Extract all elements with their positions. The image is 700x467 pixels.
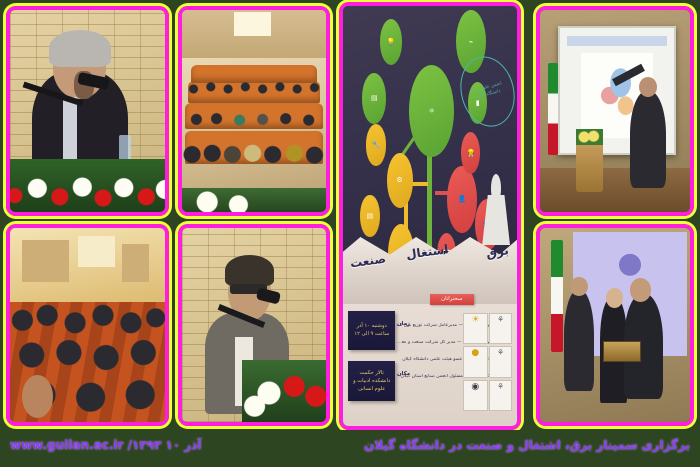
poster-content: ⚛ 💡 ⌁ ▤ ▮ ⚙ 🔧 ▤ 🏭 👤 👷 👥 👪 xyxy=(343,6,517,426)
iran-flag xyxy=(551,240,563,353)
screen-emblem xyxy=(605,239,655,281)
node-bulb-icon: 💡 xyxy=(380,19,403,65)
logo-engineering-org: ◉ xyxy=(463,380,488,411)
event-place-box: تالار حکمت دانشکده ادبیات و علوم انسانی xyxy=(348,361,395,401)
photo-content xyxy=(10,10,165,212)
footer-bar: www.guilan.ac.ir /۱۳۹۳ آذر ۱۰ برگزاری سم… xyxy=(0,430,700,467)
event-time-line2: ساعت ۹ الی ۱۲ xyxy=(354,330,389,338)
person-right-head xyxy=(630,278,651,301)
photo-frame-inner xyxy=(6,6,169,216)
presenter-head xyxy=(639,77,657,97)
person-middle-head xyxy=(606,288,623,307)
poster-frame-inner: ⚛ 💡 ⌁ ▤ ▮ ⚙ 🔧 ▤ 🏭 👤 👷 👥 👪 xyxy=(339,2,521,430)
award-plaque xyxy=(603,341,641,362)
photo-award-bottom-right xyxy=(536,224,694,426)
podium-flowers xyxy=(576,129,603,145)
speakers-badge: سخنرانان xyxy=(430,294,474,305)
logo-university-guilan-2: ⚘ xyxy=(489,346,512,377)
photo-audience-bottom-left xyxy=(6,224,169,426)
photo-frame-inner xyxy=(178,224,330,426)
node-person-icon: 👤 xyxy=(447,166,477,233)
flower-arrangement xyxy=(242,360,326,422)
footer-website-text[interactable]: www.guilan.ac.ir /۱۳۹۳ آذر ۱۰ xyxy=(10,438,201,452)
person-left-head xyxy=(570,277,588,296)
logo-industry-mine: ● xyxy=(463,346,488,377)
event-poster: ⚛ 💡 ⌁ ▤ ▮ ⚙ 🔧 ▤ 🏭 👤 👷 👥 👪 xyxy=(339,2,521,430)
node-tools-icon: 🔧 xyxy=(366,124,387,166)
logo-university-guilan-1: ⚘ xyxy=(489,313,512,344)
photo-speaker-top-left xyxy=(6,6,169,216)
photo-audience-top-middle xyxy=(178,6,330,216)
photo-content xyxy=(182,10,326,212)
collage-canvas: ⚛ 💡 ⌁ ▤ ▮ ⚙ 🔧 ▤ 🏭 👤 👷 👥 👪 xyxy=(0,0,700,467)
event-time-line1: دوشنبه ۱۰ آذر xyxy=(357,322,387,330)
photo-content xyxy=(10,228,165,422)
presenter-silhouette xyxy=(630,91,666,188)
logo-electric-power: ☀ xyxy=(463,313,488,344)
event-time-box: دوشنبه ۱۰ آذر ساعت ۹ الی ۱۲ xyxy=(348,311,395,351)
person-left xyxy=(564,290,594,391)
photo-frame-inner xyxy=(6,224,169,426)
photo-frame-inner xyxy=(178,6,330,216)
node-book-icon: ▤ xyxy=(360,195,379,237)
photo-frame-inner xyxy=(536,6,694,216)
speaker-hair xyxy=(225,255,274,286)
photo-content xyxy=(182,228,326,422)
node-gear-icon: ⚙ xyxy=(387,153,413,208)
event-place-line1: تالار حکمت xyxy=(360,369,384,377)
event-place-line2: دانشکده ادبیات و علوم انسانی xyxy=(351,377,392,393)
logo-university-guilan-3: ⚘ xyxy=(489,380,512,411)
photo-content xyxy=(540,10,690,212)
photo-frame-inner xyxy=(536,224,694,426)
footer-caption-text: برگزاری سمینار برق، اشتغال و صنعت در دان… xyxy=(364,438,690,452)
photo-content xyxy=(540,228,690,422)
iran-flag xyxy=(548,63,559,156)
podium xyxy=(576,139,603,192)
photo-presenter-top-right xyxy=(536,6,694,216)
photo-speaker-bottom-middle xyxy=(178,224,330,426)
